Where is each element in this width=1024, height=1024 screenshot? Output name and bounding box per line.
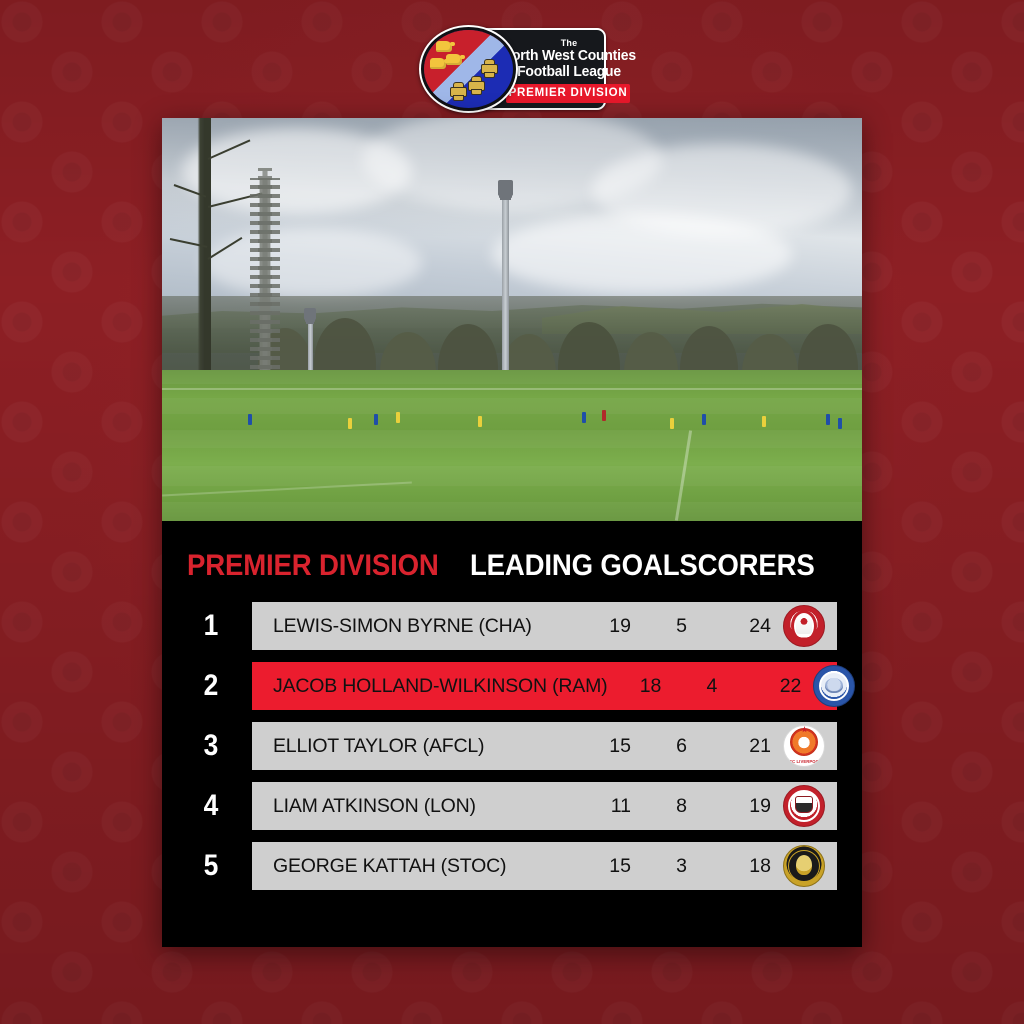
longridge-town-badge-icon	[783, 785, 825, 827]
rank-number: 1	[190, 602, 232, 650]
mow-stripe	[162, 466, 862, 486]
mow-stripe	[162, 430, 862, 448]
player	[762, 416, 766, 427]
rank-number: 5	[190, 842, 232, 890]
cup-goals: 5	[631, 615, 687, 638]
cup-goals: 3	[631, 855, 687, 878]
league-goals: 19	[577, 615, 631, 638]
player-name: JACOB HOLLAND-WILKINSON (RAM)	[252, 675, 607, 698]
crest-inner	[424, 30, 513, 108]
badge-cell	[771, 845, 837, 887]
league-goals: 11	[577, 795, 631, 818]
stockport-town-badge-icon	[783, 845, 825, 887]
crest-diagonal-band	[424, 30, 513, 108]
player-name: GEORGE KATTAH (STOC)	[252, 855, 506, 878]
logo-division-banner: PREMIER DIVISION	[506, 84, 630, 103]
row-bar[interactable]: ELLIOT TAYLOR (AFCL) 15 6 21 AFC LIVERPO…	[252, 722, 837, 770]
stadium-match-photo	[162, 118, 862, 521]
badge-cell	[771, 785, 837, 827]
badge-cell	[801, 665, 867, 707]
player	[582, 412, 586, 423]
table-row[interactable]: 5 GEORGE KATTAH (STOC) 15 3 18	[187, 842, 837, 890]
league-goals: 15	[577, 855, 631, 878]
player	[702, 414, 706, 425]
league-goals: 18	[607, 675, 661, 698]
afcl-ring	[790, 728, 818, 756]
badge-cell	[771, 605, 837, 647]
table-row[interactable]: 3 ELLIOT TAYLOR (AFCL) 15 6 21 AFC LIVER…	[187, 722, 837, 770]
player	[374, 414, 378, 425]
player	[670, 418, 674, 429]
mow-stripe	[162, 398, 862, 414]
logo-line2: Football League	[500, 64, 638, 80]
floodlight-head-icon	[498, 180, 513, 196]
crest-bobbin-icon	[468, 76, 483, 93]
league-goals: 15	[577, 735, 631, 758]
total-goals: 19	[687, 795, 771, 818]
page-title: PREMIER DIVISIONLEADING GOALSCORERS	[187, 546, 837, 586]
rank-number: 3	[190, 722, 232, 770]
player-name: LIAM ATKINSON (LON)	[252, 795, 476, 818]
ramsbottom-united-badge-icon	[813, 665, 855, 707]
cup-goals: 4	[661, 675, 717, 698]
rank-number: 2	[190, 662, 232, 710]
table-row[interactable]: 2 JACOB HOLLAND-WILKINSON (RAM) 18 4 22	[187, 662, 837, 710]
row-bar[interactable]: LEWIS-SIMON BYRNE (CHA) 19 5 24	[252, 602, 837, 650]
cup-goals: 8	[631, 795, 687, 818]
cup-goals: 6	[631, 735, 687, 758]
total-goals: 21	[687, 735, 771, 758]
row-bar[interactable]: GEORGE KATTAH (STOC) 15 3 18	[252, 842, 837, 890]
crest-bobbin-icon	[481, 59, 496, 76]
afc-liverpool-badge-icon: AFC LIVERPOOL	[783, 725, 825, 767]
chadderton-badge-icon	[783, 605, 825, 647]
row-bar[interactable]: LIAM ATKINSON (LON) 11 8 19	[252, 782, 837, 830]
total-goals: 22	[717, 675, 801, 698]
player-name: LEWIS-SIMON BYRNE (CHA)	[252, 615, 532, 638]
player-goalkeeper	[602, 410, 606, 421]
logo-line1: North West Counties	[500, 48, 638, 64]
table-row[interactable]: 4 LIAM ATKINSON (LON) 11 8 19	[187, 782, 837, 830]
mow-stripe	[162, 502, 862, 521]
badge-cell: AFC LIVERPOOL	[771, 725, 837, 767]
pitch-line	[162, 388, 862, 390]
content-panel: PREMIER DIVISIONLEADING GOALSCORERS 1 LE…	[162, 118, 862, 947]
total-goals: 18	[687, 855, 771, 878]
player	[478, 416, 482, 427]
cloud	[492, 214, 792, 294]
table-row[interactable]: 1 LEWIS-SIMON BYRNE (CHA) 19 5 24	[187, 602, 837, 650]
player-name: ELLIOT TAYLOR (AFCL)	[252, 735, 484, 758]
player	[838, 418, 842, 429]
player	[248, 414, 252, 425]
player	[826, 414, 830, 425]
rank-number: 4	[190, 782, 232, 830]
leading-goalscorers-table: 1 LEWIS-SIMON BYRNE (CHA) 19 5 24 2 JACO…	[187, 602, 837, 902]
nwcfl-league-logo: The North West Counties Football League …	[419, 25, 605, 109]
afcl-badge-text: AFC LIVERPOOL	[784, 759, 824, 764]
player	[348, 418, 352, 429]
league-crest-icon	[419, 25, 518, 113]
title-rest: LEADING GOALSCORERS	[470, 546, 815, 586]
floodlight-mast	[502, 190, 509, 390]
title-emphasis: PREMIER DIVISION	[187, 546, 439, 586]
player	[396, 412, 400, 423]
crest-bobbin-icon	[450, 82, 465, 99]
total-goals: 24	[687, 615, 771, 638]
logo-the-label: The	[509, 38, 629, 48]
row-bar[interactable]: JACOB HOLLAND-WILKINSON (RAM) 18 4 22	[252, 662, 837, 710]
mow-stripe	[162, 370, 862, 384]
logo-division-label: PREMIER DIVISION	[506, 84, 630, 103]
pitch	[162, 370, 862, 521]
floodlight-head-icon	[304, 308, 316, 320]
